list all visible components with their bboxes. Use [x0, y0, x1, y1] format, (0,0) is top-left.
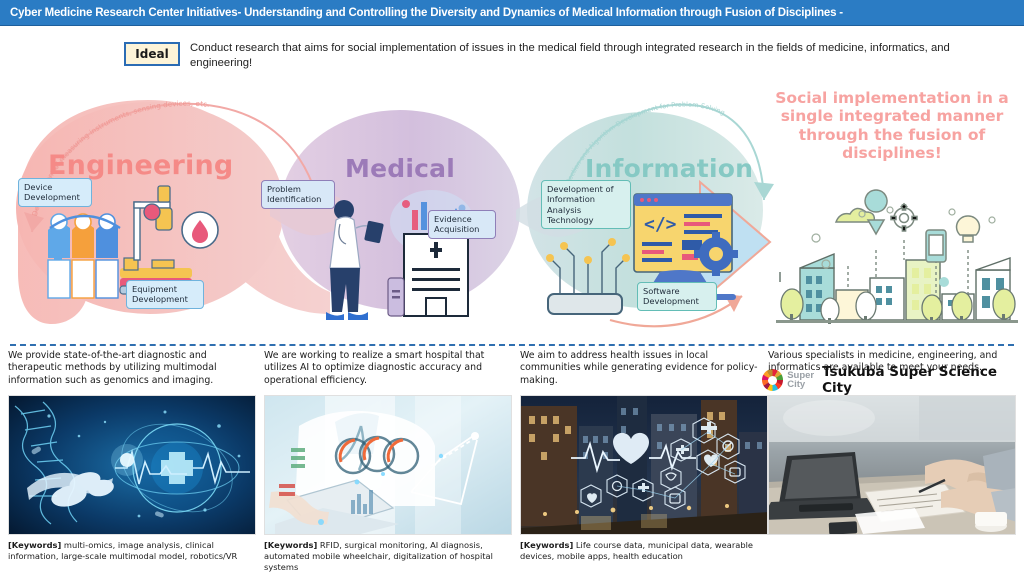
card-description: We are working to realize a smart hospit…: [264, 350, 512, 392]
card-keywords-label: [Keywords]: [264, 540, 317, 550]
card-photo-community-health: [520, 395, 768, 535]
callout-software-development: Software Development: [637, 282, 717, 311]
card-keywords: [Keywords] Life course data, municipal d…: [520, 540, 768, 562]
card-keywords: [Keywords] RFID, surgical monitoring, AI…: [264, 540, 512, 572]
callout-device-development: Device Development: [18, 178, 92, 207]
callout-problem-identification: Problem Identification: [261, 180, 335, 209]
card-keywords-label: [Keywords]: [520, 540, 573, 550]
smart-city-illustration: [776, 190, 1018, 324]
card-diagnostics[interactable]: We provide state-of-the-art diagnostic a…: [8, 350, 256, 573]
card-community-health[interactable]: We aim to address health issues in local…: [520, 350, 768, 573]
card-photo-specialists: [768, 395, 1016, 535]
card-smart-hospital[interactable]: We are working to realize a smart hospit…: [264, 350, 512, 573]
card-description: We provide state-of-the-art diagnostic a…: [8, 350, 256, 392]
card-description: We aim to address health issues in local…: [520, 350, 768, 392]
page-header: Cyber Medicine Research Center Initiativ…: [0, 0, 1024, 26]
blob-label-information: Information: [585, 154, 753, 183]
section-divider: [10, 344, 1014, 346]
callout-evidence-acquisition: Evidence Acquisition: [428, 210, 496, 239]
callout-information-analysis: Development of Information Analysis Tech…: [541, 180, 631, 229]
blob-label-medical: Medical: [345, 154, 455, 183]
ideal-statement: Conduct research that aims for social im…: [190, 41, 1000, 72]
blob-label-engineering: Engineering: [48, 150, 233, 181]
callout-equipment-development: Equipment Development: [126, 280, 204, 309]
poster-root: Cyber Medicine Research Center Initiativ…: [0, 0, 1024, 573]
card-keywords-label: [Keywords]: [8, 540, 61, 550]
card-photo-smart-hospital: [264, 395, 512, 535]
card-photo-diagnostics: [8, 395, 256, 535]
card-description: Various specialists in medicine, enginee…: [768, 350, 1016, 392]
card-keywords: [Keywords] multi-omics, image analysis, …: [8, 540, 256, 562]
fusion-diagram: Development of measuring instruments, se…: [0, 82, 1024, 340]
social-implementation-text: Social implementation in a single integr…: [768, 89, 1016, 162]
ideal-section: Ideal Conduct research that aims for soc…: [0, 32, 1024, 72]
ideal-badge: Ideal: [124, 42, 180, 66]
initiative-cards: We provide state-of-the-art diagnostic a…: [0, 350, 1024, 573]
svg-text:</>: </>: [644, 214, 677, 235]
card-specialists[interactable]: Various specialists in medicine, enginee…: [768, 350, 1016, 573]
page-title: Cyber Medicine Research Center Initiativ…: [0, 7, 843, 19]
